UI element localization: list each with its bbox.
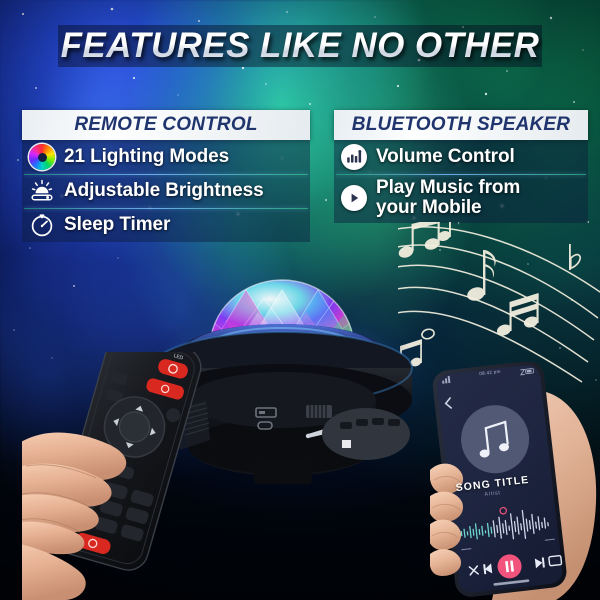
feature-row-volume-control: Volume Control [334,140,588,174]
phone-status-time: 08:42 pm [430,363,550,382]
panel-bluetooth-speaker-body: Volume Control Play Music from your Mobi… [334,140,588,223]
remote-control-in-hand: LED [22,352,242,600]
feature-label-sleep-timer: Sleep Timer [64,215,170,235]
equalizer-icon [341,144,367,170]
feature-row-play-music: Play Music from your Mobile [334,174,588,223]
feature-row-adjustable-brightness: Adjustable Brightness [22,174,310,208]
panel-bluetooth-speaker: BLUETOOTH SPEAKER Volume Control [334,110,588,223]
page-title: FEATURES LIKE NO OTHER [58,22,542,70]
panel-bluetooth-speaker-title: BLUETOOTH SPEAKER [352,114,570,136]
sleep-timer-icon [29,212,55,238]
feature-label-play-music-line1: Play Music from [376,178,520,198]
feature-label-lighting-modes: 21 Lighting Modes [64,147,229,167]
color-wheel-icon [29,144,55,170]
panel-remote-control-body: 21 Lighting Modes [22,140,310,242]
feature-label-volume-control: Volume Control [376,147,515,167]
feature-label-adjustable-brightness: Adjustable Brightness [64,181,264,201]
feature-row-lighting-modes: 21 Lighting Modes [22,140,310,174]
panel-remote-control-header: REMOTE CONTROL [22,110,310,140]
brightness-icon [29,178,55,204]
panel-remote-control: REMOTE CONTROL 21 Lighting Modes [22,110,310,242]
smartphone-in-hand: 08:42 pm SONG TITLE Artist [430,362,600,600]
product-feature-image: FEATURES LIKE NO OTHER REMOTE CONTROL 21… [0,0,600,600]
feature-label-play-music-line2: your Mobile [376,198,520,218]
play-icon [341,185,367,211]
panel-remote-control-title: REMOTE CONTROL [74,114,257,136]
panel-bluetooth-speaker-header: BLUETOOTH SPEAKER [334,110,588,140]
feature-row-sleep-timer: Sleep Timer [22,208,310,242]
